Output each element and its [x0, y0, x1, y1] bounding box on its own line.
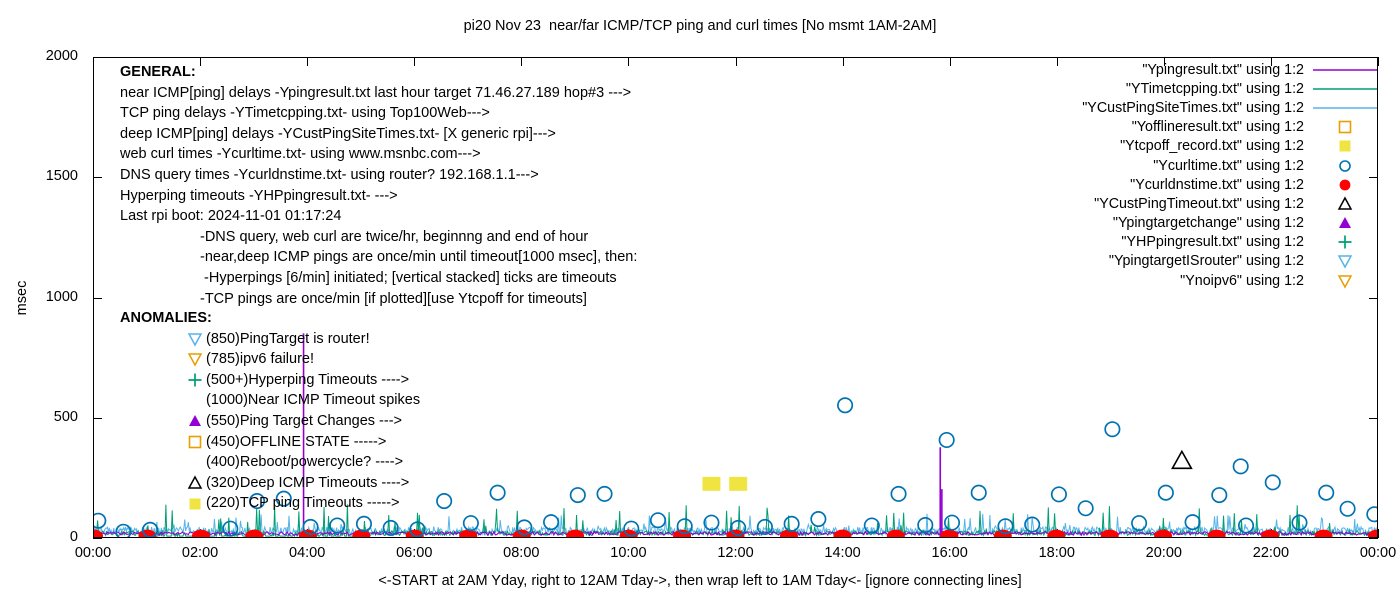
- curltime-marker: [1266, 475, 1280, 489]
- y-tick-label: 0: [8, 529, 78, 545]
- dns-marker: [833, 530, 851, 537]
- anomalies-heading: ANOMALIES:: [120, 308, 420, 329]
- curltime-marker: [544, 515, 558, 529]
- y-tick-label: 500: [8, 409, 78, 425]
- anomaly-row: (450)OFFLINE STATE ----->: [120, 432, 420, 453]
- legend-label: "Ypingresult.txt" using 1:2: [1142, 62, 1304, 78]
- x-tick-label: 14:00: [803, 545, 883, 561]
- legend-label: "Ycurldnstime.txt" using 1:2: [1130, 177, 1304, 193]
- curltime-marker: [1340, 502, 1354, 516]
- curltime-marker: [891, 487, 905, 501]
- anomaly-no-icon: [184, 453, 206, 471]
- triangle-up-purple-icon: [184, 412, 206, 430]
- anomaly-row: (220)TCP ping Timeouts ----->: [120, 493, 420, 514]
- x-tick-label: 00:00: [53, 545, 133, 561]
- triangle-down-lightblue-icon: [184, 330, 206, 348]
- curltime-marker: [811, 512, 825, 526]
- curltime-marker: [838, 398, 852, 412]
- legend-row: "Ytcpoff_record.txt" using 1:2: [988, 137, 1378, 156]
- triangle-up-black-icon: [1312, 194, 1378, 213]
- curltime-marker: [651, 513, 665, 527]
- general-line: Last rpi boot: 2024-11-01 01:17:24: [120, 206, 637, 227]
- legend-label: "YTimetcpping.txt" using 1:2: [1126, 81, 1304, 97]
- curltime-marker: [1052, 487, 1066, 501]
- line-lightblue-icon: [1312, 98, 1378, 117]
- anomaly-row: (850)PingTarget is router!: [120, 329, 420, 350]
- curltime-marker: [437, 494, 451, 508]
- curltime-marker: [1212, 488, 1226, 502]
- chart-page: pi20 Nov 23 near/far ICMP/TCP ping and c…: [0, 0, 1400, 600]
- anomaly-row: (550)Ping Target Changes --->: [120, 411, 420, 432]
- anomalies-rows: (850)PingTarget is router!(785)ipv6 fail…: [120, 329, 420, 514]
- curltime-marker: [1185, 515, 1199, 529]
- x-tick-label: 22:00: [1231, 545, 1311, 561]
- y-tick-mark: [1369, 538, 1378, 539]
- general-note: -TCP pings are once/min [if plotted][use…: [120, 289, 637, 310]
- y-tick-label: 1500: [8, 168, 78, 184]
- curltime-marker: [571, 488, 585, 502]
- legend-label: "YHPpingresult.txt" using 1:2: [1121, 234, 1304, 250]
- curltime-marker: [490, 486, 504, 500]
- plus-green-icon: [184, 371, 206, 389]
- general-heading: GENERAL:: [120, 62, 637, 83]
- general-line: Hyperping timeouts -YHPpingresult.txt- -…: [120, 186, 637, 207]
- tcpoff-marker: [729, 477, 747, 491]
- legend-label: "YCustPingTimeout.txt" using 1:2: [1094, 196, 1304, 212]
- square-open-orange-icon: [1312, 118, 1378, 137]
- general-note: -DNS query, web curl are twice/hr, begin…: [120, 227, 637, 248]
- circle-open-blue-icon: [1312, 156, 1378, 175]
- general-annotation-block: GENERAL: near ICMP[ping] delays -Ypingre…: [120, 62, 637, 309]
- legend-row: "YCustPingTimeout.txt" using 1:2: [988, 194, 1378, 213]
- general-lines: near ICMP[ping] delays -Ypingresult.txt …: [120, 83, 637, 227]
- legend-row: "YHPpingresult.txt" using 1:2: [988, 233, 1378, 252]
- x-tick-label: 08:00: [481, 545, 561, 561]
- deep-icmp-timeout-marker: [1172, 451, 1191, 468]
- triangle-down-lightblue-icon: [1312, 252, 1378, 271]
- legend-row: "Ycurltime.txt" using 1:2: [988, 156, 1378, 175]
- curltime-marker: [945, 515, 959, 529]
- anomaly-row: (320)Deep ICMP Timeouts ---->: [120, 473, 420, 494]
- legend-label: "YpingtargetISrouter" using 1:2: [1109, 253, 1304, 269]
- anomaly-no-icon: [184, 392, 206, 410]
- legend-label: "Ypingtargetchange" using 1:2: [1113, 215, 1304, 231]
- circle-filled-red-icon: [1312, 175, 1378, 194]
- legend-label: "Yofflineresult.txt" using 1:2: [1132, 119, 1304, 135]
- anomaly-label: (850)PingTarget is router!: [206, 329, 370, 350]
- legend-label: "YCustPingSiteTimes.txt" using 1:2: [1082, 100, 1304, 116]
- x-tick-label: 20:00: [1124, 545, 1204, 561]
- anomaly-row: (500+)Hyperping Timeouts ---->: [120, 370, 420, 391]
- x-tick-label: 10:00: [588, 545, 668, 561]
- anomaly-row: (400)Reboot/powercycle? ---->: [120, 452, 420, 473]
- triangle-down-orange-icon: [184, 350, 206, 368]
- x-axis-title: <-START at 2AM Yday, right to 12AM Tday-…: [0, 573, 1400, 589]
- curltime-marker: [972, 486, 986, 500]
- legend-row: "YTimetcpping.txt" using 1:2: [988, 79, 1378, 98]
- curltime-marker: [1319, 486, 1333, 500]
- curltime-marker: [1078, 501, 1092, 515]
- x-tick-label: 18:00: [1017, 545, 1097, 561]
- curltime-marker: [784, 517, 798, 531]
- curltime-marker: [1367, 507, 1377, 521]
- x-tick-label: 00:00: [1338, 545, 1400, 561]
- anomaly-label: (320)Deep ICMP Timeouts ---->: [206, 473, 409, 494]
- triangle-up-purple-icon: [1312, 214, 1378, 233]
- x-tick-mark: [1378, 57, 1379, 66]
- curltime-marker: [918, 518, 932, 532]
- legend-row: "Yofflineresult.txt" using 1:2: [988, 118, 1378, 137]
- curltime-marker: [1159, 486, 1173, 500]
- general-notes: -DNS query, web curl are twice/hr, begin…: [120, 227, 637, 309]
- general-line: web curl times -Ycurltime.txt- using www…: [120, 144, 637, 165]
- curltime-marker: [1233, 459, 1247, 473]
- dns-marker: [1101, 530, 1119, 537]
- anomaly-label: (400)Reboot/powercycle? ---->: [206, 452, 403, 473]
- x-tick-label: 16:00: [910, 545, 990, 561]
- curltime-marker: [939, 433, 953, 447]
- anomaly-row: (785)ipv6 failure!: [120, 349, 420, 370]
- line-green-icon: [1312, 79, 1378, 98]
- y-tick-label: 1000: [8, 289, 78, 305]
- dns-marker: [1368, 530, 1377, 537]
- x-tick-label: 06:00: [374, 545, 454, 561]
- legend-label: "Ycurltime.txt" using 1:2: [1153, 158, 1304, 174]
- legend-row: "Ypingtargetchange" using 1:2: [988, 214, 1378, 233]
- square-open-orange-icon: [184, 433, 206, 451]
- anomaly-label: (220)TCP ping Timeouts ----->: [206, 493, 400, 514]
- plus-green-icon: [1312, 233, 1378, 252]
- general-line: near ICMP[ping] delays -Ypingresult.txt …: [120, 83, 637, 104]
- anomaly-label: (1000)Near ICMP Timeout spikes: [206, 390, 420, 411]
- legend-label: "Ynoipv6" using 1:2: [1180, 273, 1304, 289]
- anomaly-label: (450)OFFLINE STATE ----->: [206, 432, 386, 453]
- legend-row: "Ycurldnstime.txt" using 1:2: [988, 175, 1378, 194]
- square-filled-yellow-icon: [1312, 137, 1378, 156]
- y-tick-mark: [93, 538, 102, 539]
- x-tick-label: 12:00: [696, 545, 776, 561]
- general-line: TCP ping delays -YTimetcpping.txt- using…: [120, 103, 637, 124]
- legend: "Ypingresult.txt" using 1:2"YTimetcpping…: [988, 60, 1378, 290]
- anomaly-row: (1000)Near ICMP Timeout spikes: [120, 390, 420, 411]
- general-line: deep ICMP[ping] delays -YCustPingSiteTim…: [120, 124, 637, 145]
- y-tick-label: 2000: [8, 48, 78, 64]
- anomaly-label: (550)Ping Target Changes --->: [206, 411, 402, 432]
- triangle-up-black-icon: [184, 474, 206, 492]
- legend-row: "Ypingresult.txt" using 1:2: [988, 60, 1378, 79]
- legend-row: "YCustPingSiteTimes.txt" using 1:2: [988, 98, 1378, 117]
- general-line: DNS query times -Ycurldnstime.txt- using…: [120, 165, 637, 186]
- x-tick-label: 02:00: [160, 545, 240, 561]
- x-tick-mark: [1378, 529, 1379, 538]
- general-note: -Hyperpings [6/min] initiated; [vertical…: [120, 268, 637, 289]
- anomaly-label: (785)ipv6 failure!: [206, 349, 314, 370]
- anomaly-label: (500+)Hyperping Timeouts ---->: [206, 370, 409, 391]
- legend-row: "YpingtargetISrouter" using 1:2: [988, 252, 1378, 271]
- page-title: pi20 Nov 23 near/far ICMP/TCP ping and c…: [0, 18, 1400, 34]
- curltime-marker: [94, 514, 105, 528]
- x-tick-label: 04:00: [267, 545, 347, 561]
- tcpoff-marker: [702, 477, 720, 491]
- anomalies-annotation-block: ANOMALIES: (850)PingTarget is router!(78…: [120, 308, 420, 514]
- legend-label: "Ytcpoff_record.txt" using 1:2: [1120, 138, 1304, 154]
- line-purple-icon: [1312, 60, 1378, 79]
- legend-row: "Ynoipv6" using 1:2: [988, 271, 1378, 290]
- general-note: -near,deep ICMP pings are once/min until…: [120, 247, 637, 268]
- curltime-marker: [597, 487, 611, 501]
- square-filled-yellow-icon: [184, 495, 206, 513]
- curltime-marker: [1105, 422, 1119, 436]
- triangle-down-orange-icon: [1312, 271, 1378, 290]
